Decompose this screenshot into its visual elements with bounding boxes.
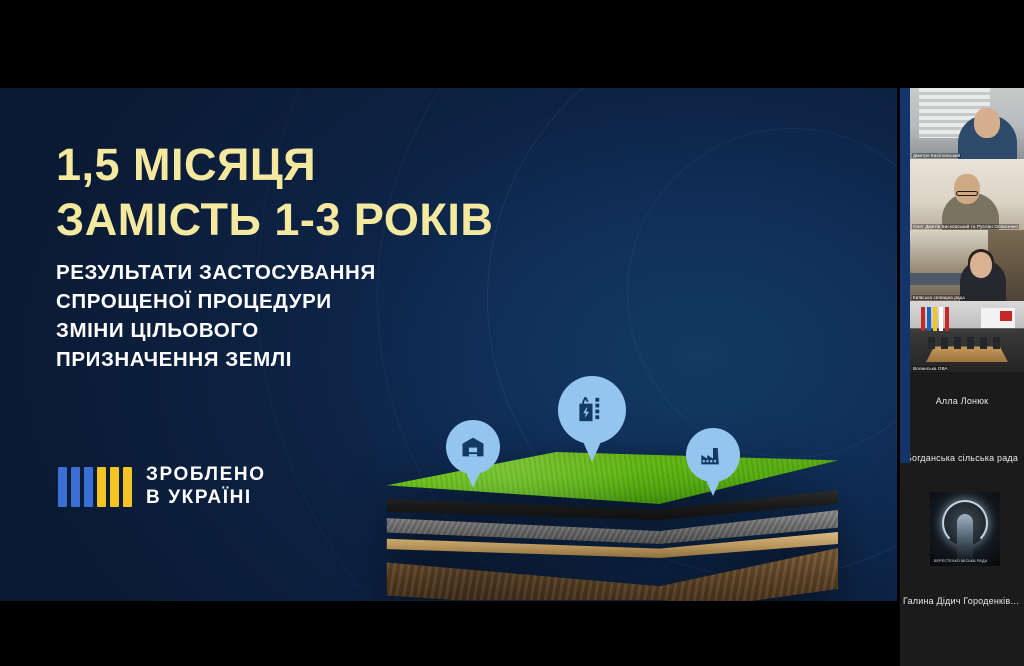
- participant-name-3: Київська селищна рада: [912, 295, 966, 300]
- map-pin-warehouse: [446, 420, 500, 490]
- participant-tile-3[interactable]: Київська селищна рада: [910, 230, 1024, 301]
- participant-entry-berestechko[interactable]: БЕРЕСТЕЧКО МІСЬКА РАДА: [900, 486, 1024, 572]
- soil-slab: [368, 452, 838, 592]
- shared-slide: 1,5 МІСЯЦЯ ЗАМІСТЬ 1-3 РОКІВ РЕЗУЛЬТАТИ …: [0, 88, 897, 601]
- logo-line-2: В УКРАЇНІ: [146, 487, 266, 509]
- participant-name-6: Богданська сільська рада: [906, 453, 1018, 463]
- participant-tile-4[interactable]: Волинська ОВА: [910, 301, 1024, 372]
- power-plant-icon: [575, 392, 610, 427]
- participant-tile-2[interactable]: Олег Дмитів Бисковський та Руслан Олексе…: [910, 159, 1024, 230]
- participant-entry-alla[interactable]: Алла Лонюк: [900, 372, 1024, 429]
- participant-name-4: Волинська ОВА: [912, 366, 949, 371]
- subhead-line-4: ПРИЗНАЧЕННЯ ЗЕМЛІ: [56, 345, 476, 374]
- headline-line-2: ЗАМІСТЬ 1-3 РОКІВ: [56, 193, 656, 248]
- headline-line-1: 1,5 МІСЯЦЯ: [56, 138, 656, 193]
- participant-name-1: Дмитро Касіловський: [912, 153, 961, 158]
- figure-silhouette: [957, 514, 973, 562]
- logo-line-1: ЗРОБЛЕНО: [146, 464, 266, 486]
- subhead-line-3: ЗМІНИ ЦІЛЬОВОГО: [56, 316, 476, 345]
- logo-bars-icon: [58, 467, 132, 507]
- factory-icon: [699, 441, 727, 469]
- sidebar-accent-strip: [900, 88, 910, 463]
- participant-avatar[interactable]: БЕРЕСТЕЧКО МІСЬКА РАДА: [930, 492, 1000, 566]
- participant-name-5: Алла Лонюк: [936, 396, 989, 406]
- subhead-line-2: СПРОЩЕНОЇ ПРОЦЕДУРИ: [56, 287, 476, 316]
- video-player-controls[interactable]: » 00:11:48 01:14:04: [351, 600, 675, 601]
- logo-text: ЗРОБЛЕНО В УКРАЇНІ: [146, 464, 266, 509]
- screen-root: 1,5 МІСЯЦЯ ЗАМІСТЬ 1-3 РОКІВ РЕЗУЛЬТАТИ …: [0, 0, 1024, 666]
- avatar-caption: БЕРЕСТЕЧКО МІСЬКА РАДА: [934, 559, 987, 563]
- slide-subheadline: РЕЗУЛЬТАТИ ЗАСТОСУВАННЯ СПРОЩЕНОЇ ПРОЦЕД…: [56, 258, 476, 374]
- participant-entry-bohdanska[interactable]: Богданська сільська рада: [900, 429, 1024, 486]
- participant-tile-1[interactable]: Дмитро Касіловський: [910, 88, 1024, 159]
- warehouse-icon: [459, 433, 487, 461]
- slide-headline: 1,5 МІСЯЦЯ ЗАМІСТЬ 1-3 РОКІВ: [56, 138, 656, 248]
- land-cross-section-graphic: [368, 380, 838, 595]
- made-in-ukraine-logo: ЗРОБЛЕНО В УКРАЇНІ: [58, 464, 266, 509]
- participant-sidebar[interactable]: Дмитро Касіловський Олег Дмитів Бисковсь…: [900, 88, 1024, 666]
- participant-name-2: Олег Дмитів Бисковський та Руслан Олексе…: [912, 224, 1019, 229]
- map-pin-factory: [686, 428, 740, 498]
- participant-entry-halyna[interactable]: Галина Дідич Городенківськ...: [900, 572, 1024, 629]
- map-pin-power-plant: [558, 376, 626, 464]
- participant-name-7: Галина Дідич Городенківськ...: [903, 596, 1021, 606]
- subhead-line-1: РЕЗУЛЬТАТИ ЗАСТОСУВАННЯ: [56, 258, 476, 287]
